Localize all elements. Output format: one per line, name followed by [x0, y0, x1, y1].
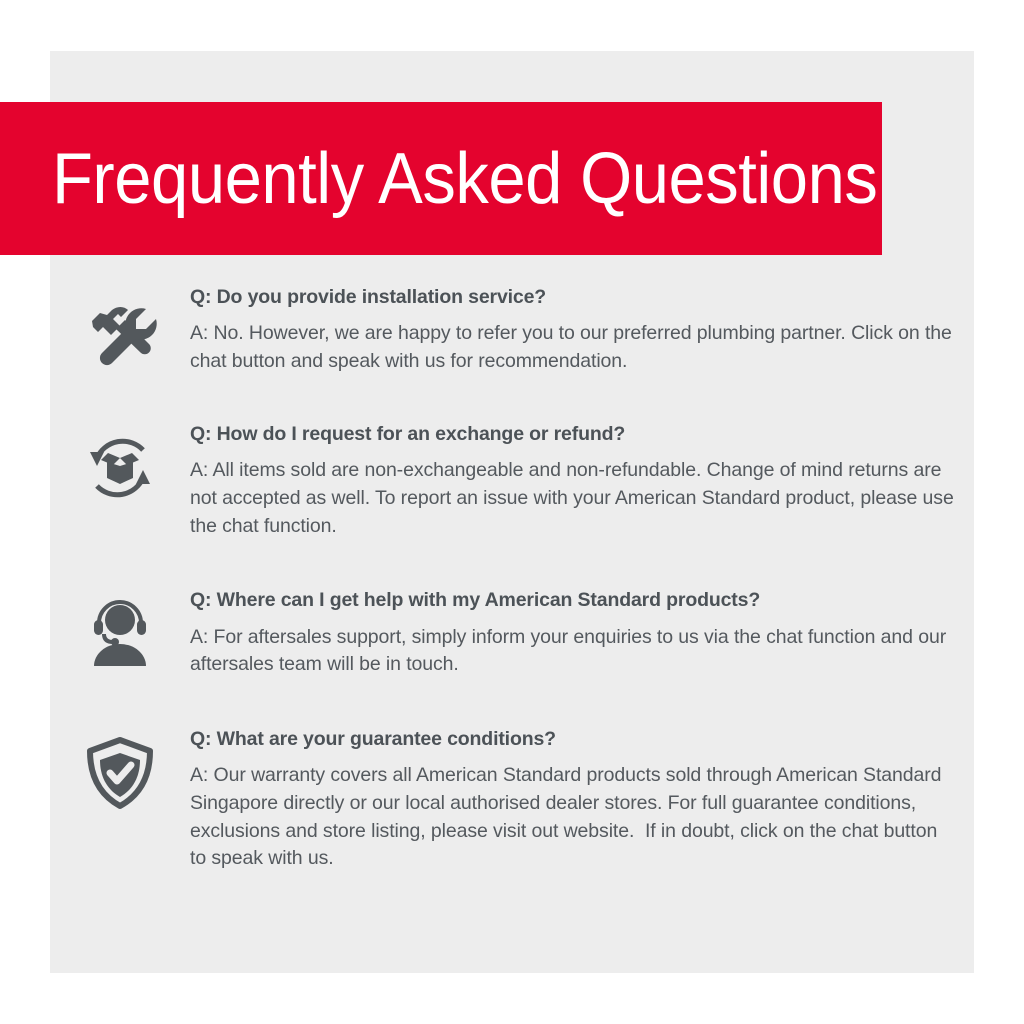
- faq-answer: A: Our warranty covers all American Stan…: [190, 762, 956, 873]
- faq-answer: A: No. However, we are happy to refer yo…: [190, 320, 956, 375]
- faq-question: Q: What are your guarantee conditions?: [190, 727, 956, 751]
- faq-item: Q: What are your guarantee conditions? A…: [50, 727, 974, 895]
- faq-text-block: Q: Where can I get help with my American…: [190, 588, 974, 679]
- faq-text-block: Q: How do I request for an exchange or r…: [190, 422, 974, 540]
- headset-support-agent-icon: [50, 588, 190, 672]
- hammer-wrench-icon: [50, 285, 190, 375]
- page-title: Frequently Asked Questions: [52, 143, 877, 215]
- faq-answer: A: All items sold are non-exchangeable a…: [190, 457, 956, 540]
- faq-text-block: Q: Do you provide installation service? …: [190, 285, 974, 376]
- faq-item: Q: Where can I get help with my American…: [50, 588, 974, 701]
- faq-answer: A: For aftersales support, simply inform…: [190, 624, 956, 679]
- faq-question: Q: Do you provide installation service?: [190, 285, 956, 309]
- faq-item: Q: How do I request for an exchange or r…: [50, 422, 974, 562]
- faq-header-banner: Frequently Asked Questions: [0, 102, 882, 255]
- faq-item: Q: Do you provide installation service? …: [50, 285, 974, 398]
- faq-question: Q: Where can I get help with my American…: [190, 588, 956, 612]
- box-return-arrows-icon: [50, 422, 190, 508]
- faq-text-block: Q: What are your guarantee conditions? A…: [190, 727, 974, 873]
- shield-check-icon: [50, 727, 190, 813]
- faq-page: Frequently Asked Questions Q: Do you pro…: [0, 0, 1024, 1024]
- faq-question: Q: How do I request for an exchange or r…: [190, 422, 956, 446]
- faq-list: Q: Do you provide installation service? …: [50, 285, 974, 895]
